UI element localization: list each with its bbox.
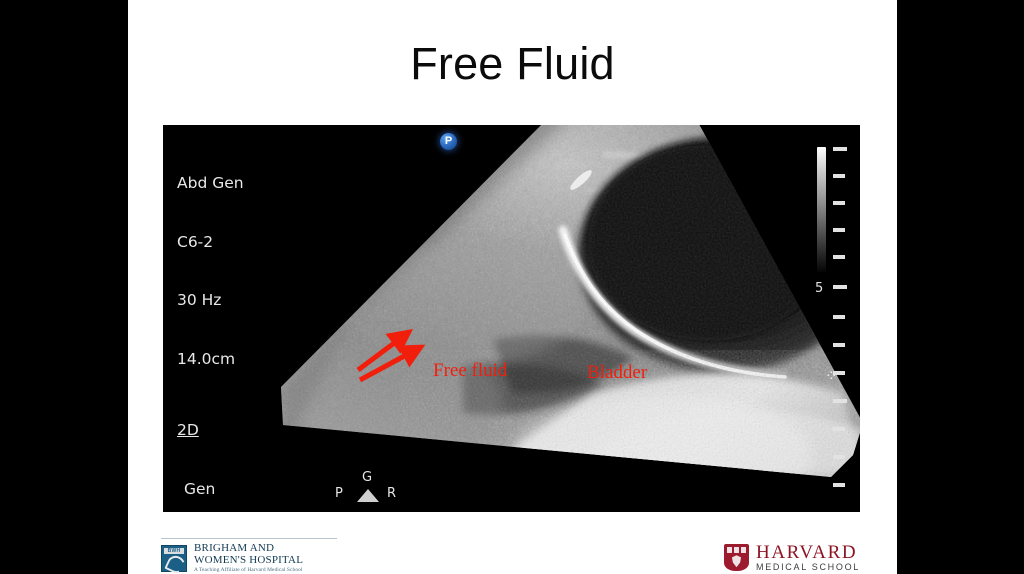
param-depth: 14.0cm xyxy=(177,350,244,370)
bwh-swirl-icon xyxy=(164,553,187,574)
depth-scale: 5 ⁘ xyxy=(813,125,860,512)
harvard-shield-icon xyxy=(724,544,749,571)
param-probe: C6-2 xyxy=(177,233,244,253)
orientation-marker-p: P xyxy=(335,486,343,501)
harvard-logo: HARVARD MEDICAL SCHOOL xyxy=(724,543,860,573)
param-mode-preset: Gen xyxy=(177,480,244,500)
depth-tick xyxy=(833,343,845,347)
bwh-shield-icon: BWH xyxy=(161,545,187,572)
depth-tick xyxy=(833,174,845,178)
focal-zone-marker-icon: ⁘ xyxy=(825,369,837,384)
bwh-line1: BRIGHAM AND xyxy=(194,543,303,555)
depth-tick xyxy=(833,427,845,431)
depth-tick xyxy=(833,228,845,232)
param-preset: Abd Gen xyxy=(177,174,244,194)
depth-tick-major xyxy=(833,285,847,289)
param-mode-heading: 2D xyxy=(177,421,244,441)
depth-tick-major xyxy=(833,399,847,403)
presentation-slide: Free Fluid xyxy=(0,0,1024,574)
orientation-triangle-icon xyxy=(357,489,379,502)
bwh-line2: WOMEN'S HOSPITAL xyxy=(194,555,303,567)
footer-divider xyxy=(161,538,337,539)
orientation-marker-g: G xyxy=(362,470,372,485)
orientation-marker-r: R xyxy=(387,486,396,501)
depth-tick xyxy=(833,255,845,259)
ultrasound-parameters: Abd Gen C6-2 30 Hz 14.0cm 2D Gen Gn 84 C… xyxy=(177,135,244,512)
grayscale-bar xyxy=(817,147,826,272)
page-title: Free Fluid xyxy=(128,38,897,90)
depth-tick xyxy=(833,147,847,151)
depth-tick xyxy=(833,315,845,319)
bwh-logo: BWH BRIGHAM AND WOMEN'S HOSPITAL A Teach… xyxy=(161,543,303,573)
ultrasound-image-panel: Abd Gen C6-2 30 Hz 14.0cm 2D Gen Gn 84 C… xyxy=(163,125,860,512)
depth-tick xyxy=(833,201,845,205)
bwh-wordmark: BRIGHAM AND WOMEN'S HOSPITAL A Teaching … xyxy=(194,543,303,573)
param-frame-rate: 30 Hz xyxy=(177,291,244,311)
annotation-free-fluid: Free fluid xyxy=(433,360,507,382)
slide-canvas: Free Fluid xyxy=(128,0,897,574)
depth-tick xyxy=(833,455,845,459)
harvard-crest-icon xyxy=(730,555,743,567)
harvard-wordmark: HARVARD MEDICAL SCHOOL xyxy=(756,543,860,573)
probe-orientation-badge: P xyxy=(440,133,457,150)
harvard-books-icon xyxy=(727,547,746,553)
orientation-markers: G P R xyxy=(313,470,423,506)
ultrasound-sector-fan xyxy=(163,125,860,512)
depth-label-5: 5 xyxy=(815,281,823,296)
harvard-line2: MEDICAL SCHOOL xyxy=(756,563,860,572)
harvard-line1: HARVARD xyxy=(756,543,860,562)
bwh-mark-text: BWH xyxy=(164,548,184,554)
depth-tick xyxy=(833,483,845,487)
annotation-bladder: Bladder xyxy=(587,362,647,384)
bwh-tagline: A Teaching Affiliate of Harvard Medical … xyxy=(194,568,303,574)
